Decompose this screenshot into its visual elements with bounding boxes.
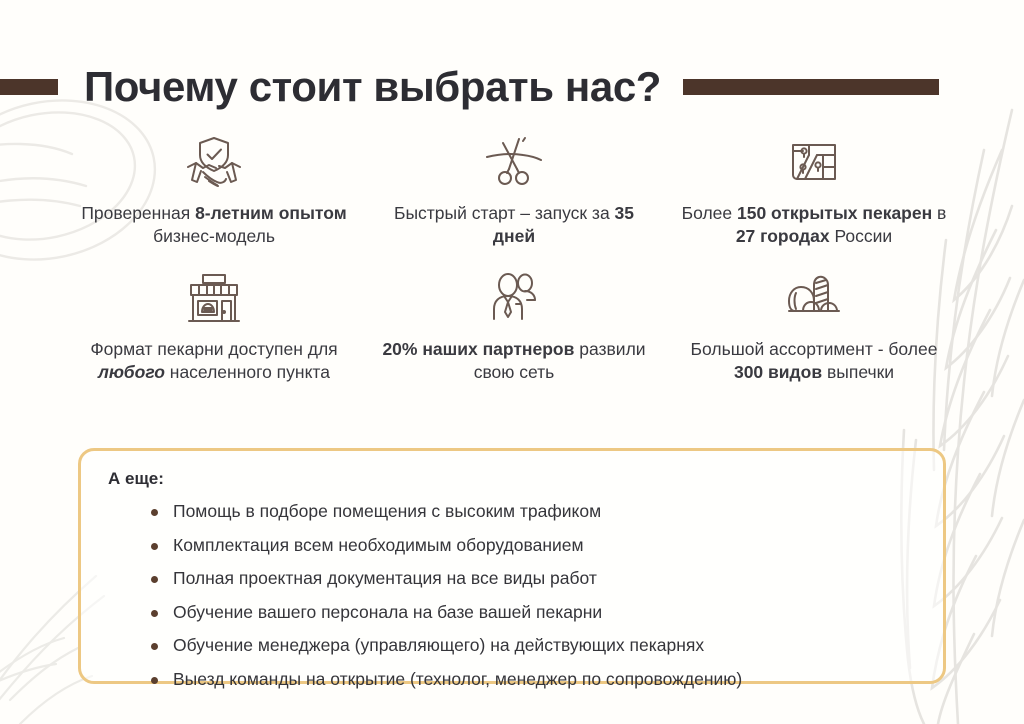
title-rule-left [0,79,58,95]
two-people-icon [483,270,545,328]
list-item: Выезд команды на открытие (технолог, мен… [147,671,927,689]
feature-grid: Проверенная 8-летним опытом бизнес-модел… [64,134,964,384]
feature-card: 20% наших партнеров развили свою сеть [364,270,664,384]
map-pins-icon [783,134,845,192]
feature-text: Быстрый старт – запуск за 35 дней [379,202,649,248]
feature-text: Большой ассортимент - более 300 видов вы… [679,338,949,384]
list-item: Обучение менеджера (управляющего) на дей… [147,637,927,655]
feature-card: Формат пекарни доступен для любого насел… [64,270,364,384]
extras-box: А еще: Помощь в подборе помещения с высо… [78,448,946,684]
extras-heading: А еще: [108,469,164,489]
feature-card: Большой ассортимент - более 300 видов вы… [664,270,964,384]
feature-text: Более 150 открытых пекарен в 27 городах … [679,202,949,248]
list-item: Помощь в подборе помещения с высоким тра… [147,503,927,521]
bakery-storefront-icon [183,270,245,328]
extras-list: Помощь в подборе помещения с высоким тра… [147,503,927,688]
feature-card: Быстрый старт – запуск за 35 дней [364,134,664,248]
page-title-row: Почему стоит выбрать нас? [0,58,1024,116]
page-title: Почему стоит выбрать нас? [84,66,661,108]
feature-text: 20% наших партнеров развили свою сеть [379,338,649,384]
feature-text: Формат пекарни доступен для любого насел… [79,338,349,384]
title-rule-right [683,79,939,95]
list-item: Полная проектная документация на все вид… [147,570,927,588]
handshake-shield-icon [183,134,245,192]
list-item: Обучение вашего персонала на базе вашей … [147,604,927,622]
feature-card: Проверенная 8-летним опытом бизнес-модел… [64,134,364,248]
feature-card: Более 150 открытых пекарен в 27 городах … [664,134,964,248]
list-item: Комплектация всем необходимым оборудован… [147,537,927,555]
scissors-ribbon-icon [483,134,545,192]
bread-assortment-icon [783,270,845,328]
feature-text: Проверенная 8-летним опытом бизнес-модел… [79,202,349,248]
